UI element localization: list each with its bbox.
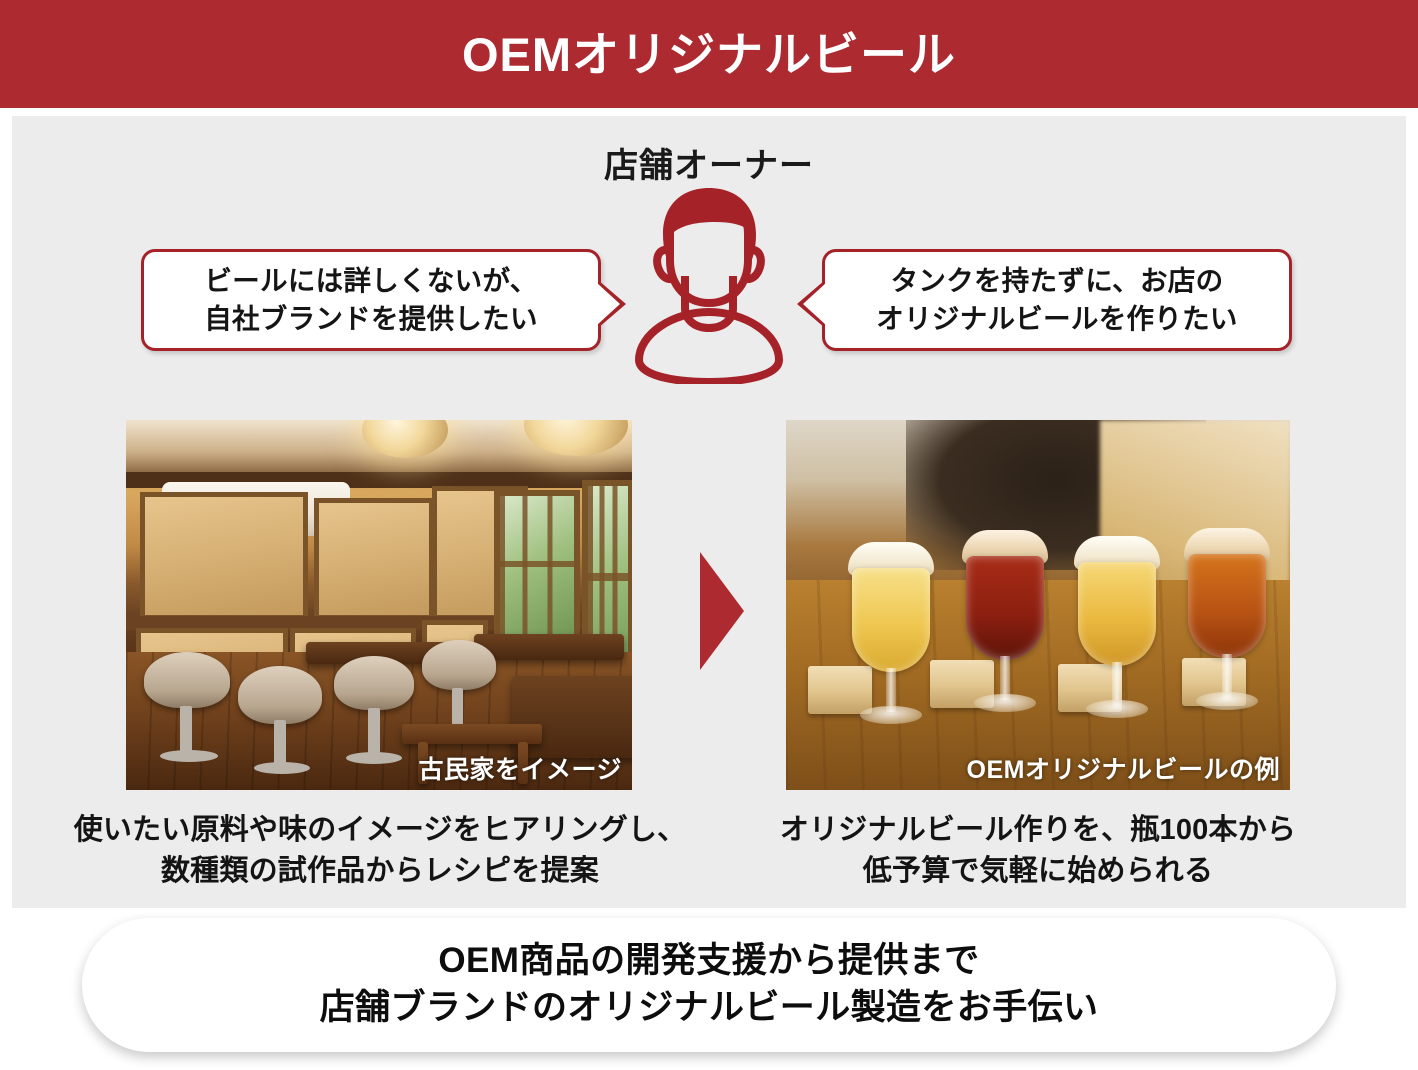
photo-beer-glasses: OEMオリジナルビールの例: [786, 420, 1290, 790]
footer-summary-text: OEM商品の開発支援から提供まで 店舗ブランドのオリジナルビール製造をお手伝い: [320, 938, 1099, 1032]
triangle-right-icon: [700, 552, 744, 670]
photo-right-scene: [786, 420, 1290, 790]
speech-bubble-left-text: ビールには詳しくないが、 自社ブランドを提供したい: [204, 262, 538, 338]
footer-summary-banner: OEM商品の開発支援から提供まで 店舗ブランドのオリジナルビール製造をお手伝い: [82, 918, 1336, 1052]
speech-bubble-right-text: タンクを持たずに、お店の オリジナルビールを作りたい: [876, 262, 1237, 338]
header-banner: OEMオリジナルビール: [0, 0, 1418, 108]
speech-bubble-left: ビールには詳しくないが、 自社ブランドを提供したい: [141, 249, 601, 351]
person-avatar-icon: [629, 184, 789, 384]
photo-left-overlay-label: 古民家をイメージ: [418, 750, 622, 786]
owner-label: 店舗オーナー: [12, 138, 1406, 187]
photo-left-scene: [126, 420, 632, 790]
caption-right: オリジナルビール作りを、瓶100本から 低予算で気軽に始められる: [728, 810, 1348, 892]
bubble-tail-right-fill-icon: [597, 283, 620, 325]
main-content-panel: 店舗オーナー ビールには詳しくないが、 自社ブランドを提供したい タンクを持たず…: [12, 116, 1406, 908]
page-title: OEMオリジナルビール: [462, 31, 956, 78]
bubble-tail-left-fill-icon: [803, 283, 826, 325]
speech-bubble-right: タンクを持たずに、お店の オリジナルビールを作りたい: [822, 249, 1292, 351]
caption-left: 使いたい原料や味のイメージをヒアリングし、 数種類の試作品からレシピを提案: [52, 810, 708, 892]
photo-right-overlay-label: OEMオリジナルビールの例: [967, 750, 1280, 786]
photo-old-house-interior: 古民家をイメージ: [126, 420, 632, 790]
